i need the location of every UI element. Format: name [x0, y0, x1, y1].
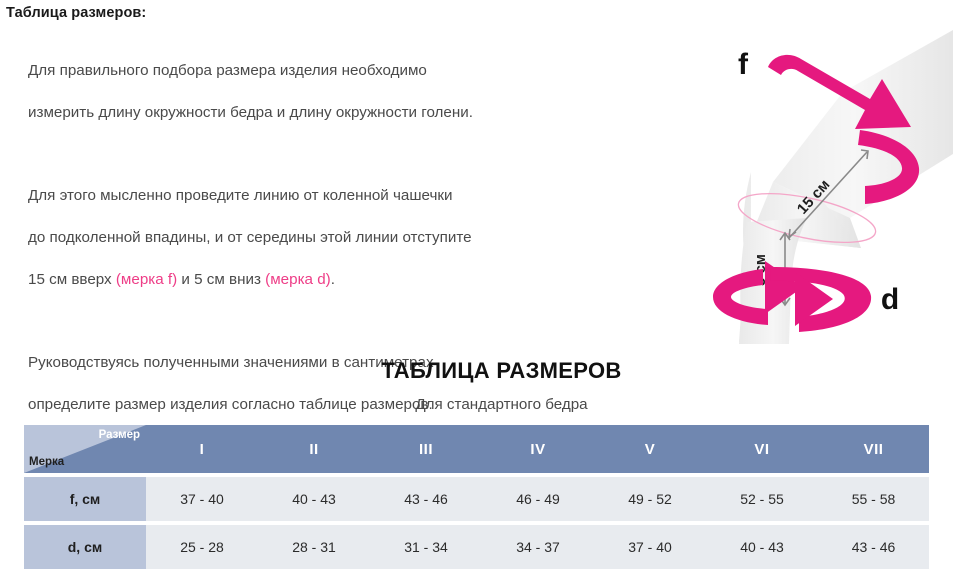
cell-f-6: 52 - 55: [706, 477, 818, 521]
paragraph-2-line-1: Для этого мысленно проведите линию от ко…: [28, 185, 648, 206]
cell-f-7: 55 - 58: [818, 477, 929, 521]
column-header-6: VI: [706, 425, 818, 473]
corner-measure-label: Мерка: [29, 455, 64, 469]
size-table-subtitle-text: Для стандартного бедра: [365, 396, 587, 413]
calf-circle-arrow-d: [713, 261, 871, 332]
cell-d-7: 43 - 46: [818, 525, 929, 569]
column-header-5: V: [594, 425, 706, 473]
label-d: d: [881, 283, 899, 316]
paragraph-2-line-3: 15 см вверх (мерка f) и 5 см вниз (мерка…: [28, 269, 648, 290]
cell-f-4: 46 - 49: [482, 477, 594, 521]
table-row: d, см 25 - 28 28 - 31 31 - 34 34 - 37 37…: [24, 525, 929, 569]
column-header-3: III: [370, 425, 482, 473]
paragraph-1-line-1: Для правильного подбора размера изделия …: [28, 60, 648, 81]
paragraph-2-line-2: до подколенной впадины, и от середины эт…: [28, 227, 648, 248]
table-corner-cell: Размер Мерка: [24, 425, 146, 473]
size-table: Размер Мерка I II III IV V VI VII f, см …: [24, 425, 929, 569]
table-header-row: Размер Мерка I II III IV V VI VII: [24, 425, 929, 473]
row-label-f: f, см: [24, 477, 146, 521]
cell-f-2: 40 - 43: [258, 477, 370, 521]
size-table-title-text: ТАБЛИЦА РАЗМЕРОВ: [331, 358, 621, 383]
measure-d-prefix: и 5 см вниз: [177, 271, 265, 288]
size-table-subtitle: Для стандартного бедра: [0, 396, 953, 413]
page-title: Таблица размеров:: [6, 5, 146, 21]
cell-d-3: 31 - 34: [370, 525, 482, 569]
cell-f-5: 49 - 52: [594, 477, 706, 521]
row-label-d: d, см: [24, 525, 146, 569]
paragraph-1-line-2: измерить длину окружности бедра и длину …: [28, 102, 648, 123]
measure-d-tag: (мерка d): [265, 271, 331, 288]
measure-f-prefix: 15 см вверх: [28, 271, 116, 288]
column-header-4: IV: [482, 425, 594, 473]
measure-f-tag: (мерка f): [116, 271, 177, 288]
label-f: f: [738, 48, 749, 81]
cell-f-3: 43 - 46: [370, 477, 482, 521]
corner-size-label: Размер: [99, 428, 140, 442]
column-header-7: VII: [818, 425, 929, 473]
column-header-1: I: [146, 425, 258, 473]
leg-measurement-diagram: 15 см 5 см f d: [665, 22, 953, 362]
cell-d-6: 40 - 43: [706, 525, 818, 569]
cell-d-4: 34 - 37: [482, 525, 594, 569]
paragraph-2: Для этого мысленно проведите линию от ко…: [28, 164, 648, 311]
column-header-2: II: [258, 425, 370, 473]
paragraph-2-period: .: [331, 271, 335, 288]
cell-d-2: 28 - 31: [258, 525, 370, 569]
cell-d-5: 37 - 40: [594, 525, 706, 569]
paragraph-1: Для правильного подбора размера изделия …: [28, 39, 648, 144]
table-row: f, см 37 - 40 40 - 43 43 - 46 46 - 49 49…: [24, 477, 929, 521]
size-table-title: ТАБЛИЦА РАЗМЕРОВ: [0, 358, 953, 384]
cell-f-1: 37 - 40: [146, 477, 258, 521]
cell-d-1: 25 - 28: [146, 525, 258, 569]
